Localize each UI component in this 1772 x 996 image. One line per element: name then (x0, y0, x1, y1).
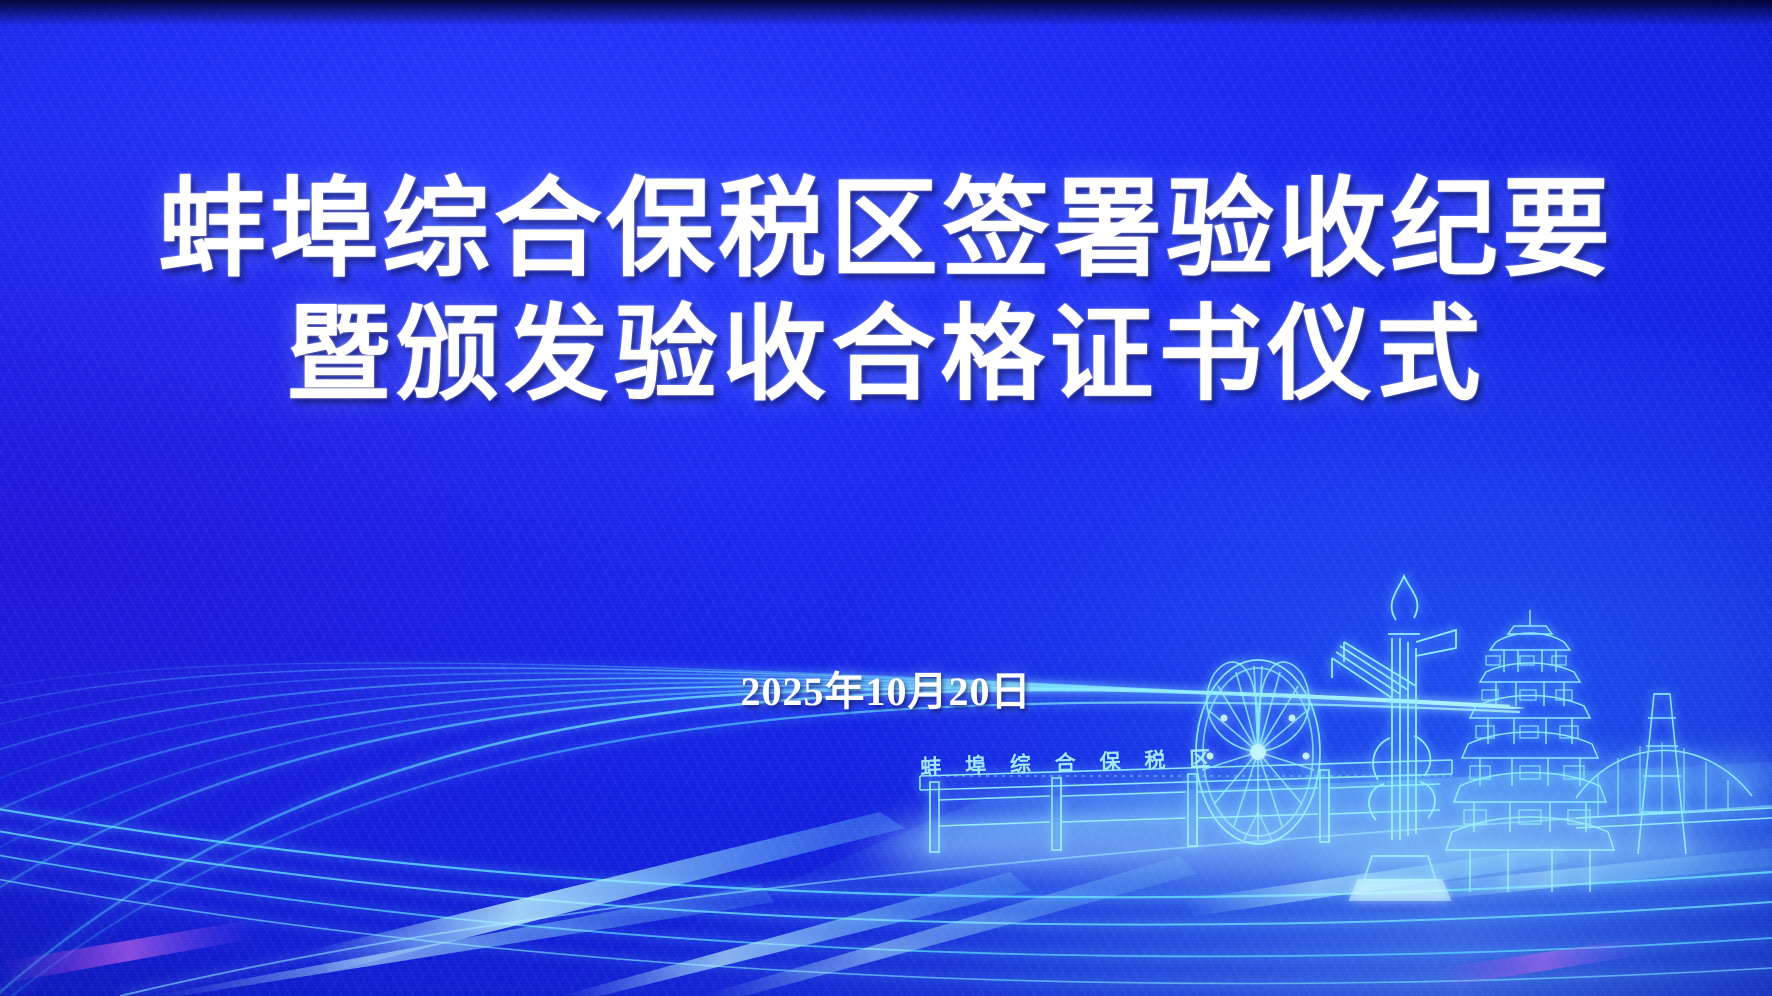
backdrop-artwork (0, 0, 1772, 996)
title-line-2: 暨颁发验收合格证书仪式 (0, 292, 1772, 418)
event-date: 2025年10月20日 (0, 659, 1772, 717)
title-block: 蚌埠综合保税区签署验收纪要 暨颁发验收合格证书仪式 (0, 166, 1772, 418)
title-line-1: 蚌埠综合保税区签署验收纪要 (0, 166, 1772, 292)
ceremony-backdrop: 蚌 埠 综 合 保 税 区 蚌埠综合保税区签署验收纪要 暨颁发验收合格证书仪式 … (0, 0, 1772, 996)
